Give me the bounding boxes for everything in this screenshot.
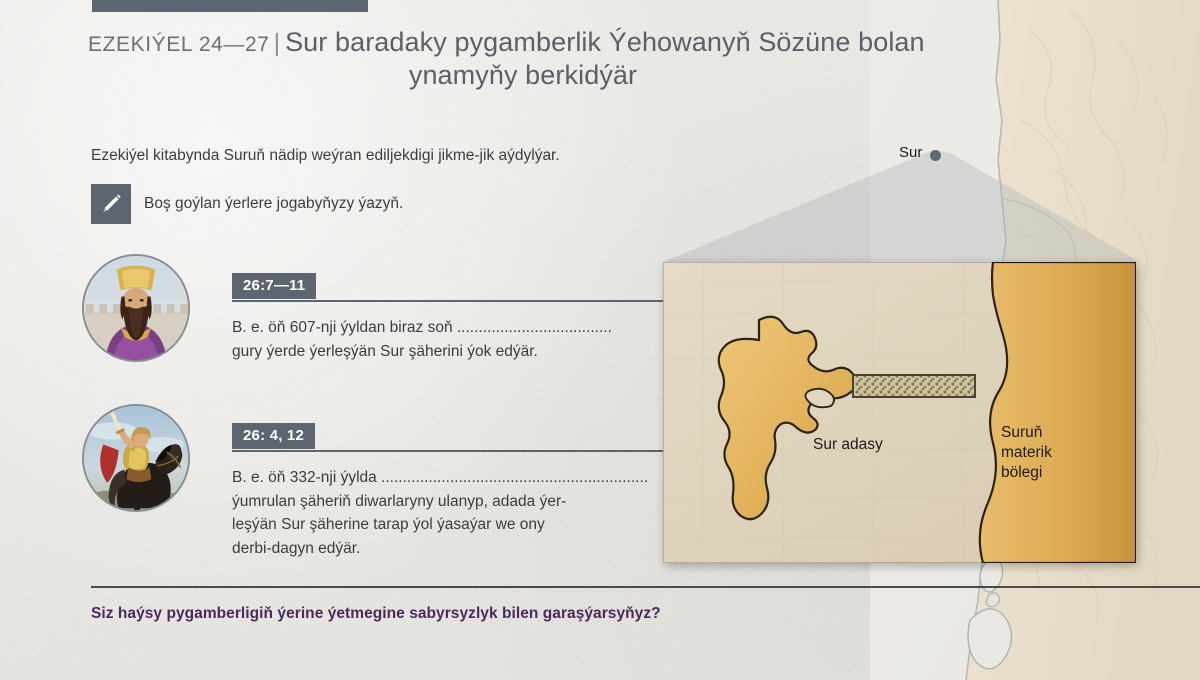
map-label-island: Sur adasy [813,436,883,455]
map-detail-panel [663,262,1136,563]
scripture-badge-2: 26: 4, 12 [232,423,315,449]
instruction-text: Boş goýlan ýerlere jogabyňyzy ýazyň. [144,195,403,213]
header-separator: | [274,29,281,57]
scripture-body-1: B. e. öň 607-nji ýyldan biraz soň ......… [232,316,662,363]
scripture-body-2-line1: B. e. öň 332-nji ýylda .................… [232,469,648,486]
zoom-cone [620,150,1140,280]
page-title-line1: Sur baradaky pygamberlik Ýehowanyň Sözün… [285,27,925,57]
map-label-mainland: Suruň materik bölegi [1001,423,1052,482]
portrait-alexander [82,404,190,512]
footer-divider [91,586,1200,588]
scripture-badge-1: 26:7—11 [232,273,316,299]
scripture-body-2-line3: leşýän Sur şäherine tarap ýol ýasaýar we… [232,516,545,533]
scripture-block-1: 26:7—11 B. e. öň 607-nji ýyldan biraz so… [232,273,662,363]
scripture-body-2: B. e. öň 332-nji ýylda .................… [232,466,662,560]
intro-paragraph: Ezekiýel kitabynda Suruň nädip weýran ed… [91,145,691,167]
footer-question: Siz haýsy pygamberligiň ýerine ýetmegine… [91,605,661,623]
map-callout-sur-dot [930,150,941,161]
portrait-nebuchadnezzar [82,254,190,362]
page-root: EZEKIÝEL 24—27|Sur baradaky pygamberlik … [0,0,1200,680]
scripture-body-1-line1: B. e. öň 607-nji ýyldan biraz soň ......… [232,319,612,336]
scripture-body-2-line2: ýumrulan şäheriň diwarlaryny ulanyp, ada… [232,493,566,510]
instruction-row: Boş goýlan ýerlere jogabyňyzy ýazyň. [91,184,403,224]
scripture-body-2-line4: derbi-dagyn edýär. [232,540,360,557]
map-callout-sur-label: Sur [899,144,922,161]
top-tab-bar [92,0,368,12]
page-header: EZEKIÝEL 24—27|Sur baradaky pygamberlik … [88,26,1048,91]
scripture-block-2: 26: 4, 12 B. e. öň 332-nji ýylda .......… [232,423,662,560]
pencil-icon [91,184,131,224]
page-title-line2: ynamyňy berkidýär [409,60,637,90]
scripture-body-1-line2: gury ýerde ýerleşýän Sur şäherini ýok ed… [232,343,538,360]
scripture-reference: EZEKIÝEL 24—27 [88,33,270,56]
header-line-2: ynamyňy berkidýär [88,60,958,91]
header-line-1: EZEKIÝEL 24—27|Sur baradaky pygamberlik … [88,26,1048,59]
